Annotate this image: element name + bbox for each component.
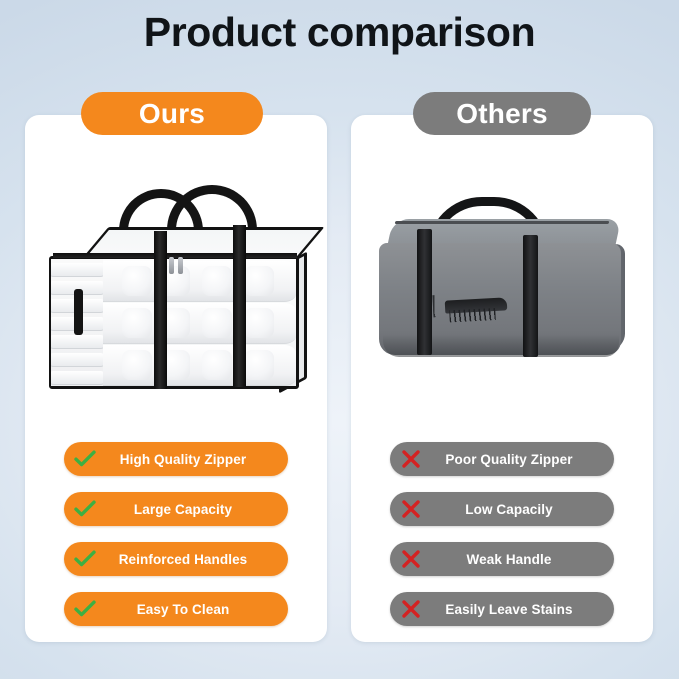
check-icon <box>68 550 102 568</box>
feature-list-others: Poor Quality Zipper Low Capacily Weak Ha… <box>351 442 653 642</box>
cross-icon <box>394 599 428 619</box>
gray-duffel-bag-illustration <box>373 207 635 382</box>
bag-strap <box>417 229 432 355</box>
feature-item: Weak Handle <box>390 542 614 576</box>
comparison-infographic: Product comparison <box>0 0 679 679</box>
clear-storage-bag-illustration <box>37 183 315 413</box>
feature-label: Poor Quality Zipper <box>428 452 614 467</box>
feature-label: Weak Handle <box>428 552 614 567</box>
feature-item: High Quality Zipper <box>64 442 288 476</box>
comparison-card-others: Poor Quality Zipper Low Capacily Weak Ha… <box>351 115 653 642</box>
bag-zipper-seam <box>395 221 610 224</box>
comparison-card-ours: High Quality Zipper Large Capacity Reinf… <box>25 115 327 642</box>
feature-label: Easy To Clean <box>102 602 288 617</box>
check-icon <box>68 500 102 518</box>
product-image-others <box>351 145 653 435</box>
bag-strap <box>523 235 538 357</box>
feature-label: Large Capacity <box>102 502 288 517</box>
side-grab-handle <box>74 289 83 335</box>
feature-item: Easily Leave Stains <box>390 592 614 626</box>
reinforced-strap <box>233 225 246 387</box>
zipper-track <box>53 253 297 258</box>
feature-item: Low Capacily <box>390 492 614 526</box>
feature-label: Easily Leave Stains <box>428 602 614 617</box>
cross-icon <box>394 449 428 469</box>
badge-others: Others <box>413 92 591 135</box>
zipper-pull-icon <box>178 257 183 274</box>
feature-item: Poor Quality Zipper <box>390 442 614 476</box>
product-image-ours <box>25 145 327 435</box>
feature-label: Low Capacily <box>428 502 614 517</box>
feature-item: Reinforced Handles <box>64 542 288 576</box>
check-icon <box>68 450 102 468</box>
feature-item: Easy To Clean <box>64 592 288 626</box>
badge-ours: Ours <box>81 92 263 135</box>
check-icon <box>68 600 102 618</box>
cross-icon <box>394 549 428 569</box>
feature-item: Large Capacity <box>64 492 288 526</box>
cross-icon <box>394 499 428 519</box>
feature-list-ours: High Quality Zipper Large Capacity Reinf… <box>25 442 327 642</box>
zipper-pull-icon <box>169 257 174 274</box>
page-title: Product comparison <box>0 9 679 56</box>
reinforced-strap <box>154 231 167 389</box>
feature-label: Reinforced Handles <box>102 552 288 567</box>
feature-label: High Quality Zipper <box>102 452 288 467</box>
